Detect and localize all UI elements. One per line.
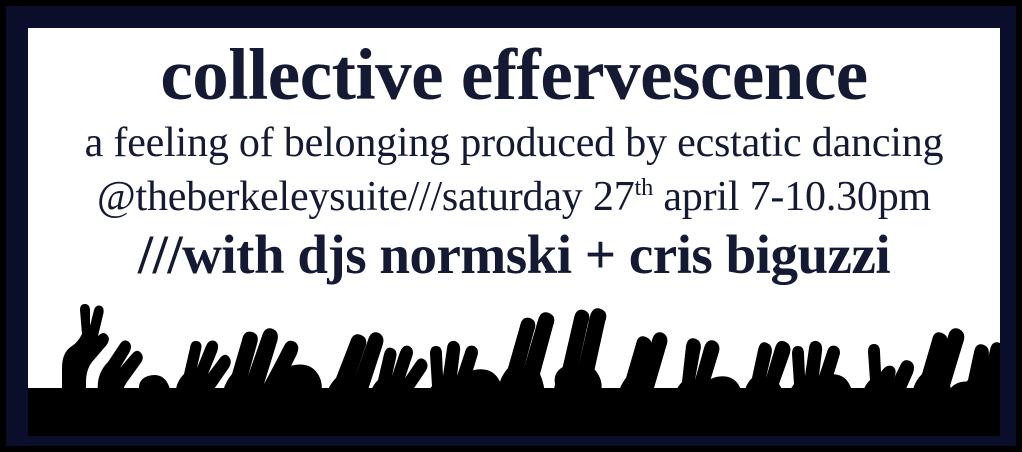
poster-details-time: april 7-10.30pm xyxy=(653,174,931,220)
poster-lineup: ///with djs normski + cris biguzzi xyxy=(28,225,1000,286)
poster-details: @theberkeleysuite///saturday 27th april … xyxy=(28,172,1000,223)
poster: collective effervescence a feeling of be… xyxy=(0,0,1022,452)
crowd-silhouette-artwork xyxy=(28,296,1000,436)
poster-details-venue: @theberkeleysuite///saturday 27 xyxy=(97,174,634,220)
poster-title: collective effervescence xyxy=(28,38,1000,112)
poster-tagline: a feeling of belonging produced by ecsta… xyxy=(28,118,1000,169)
poster-card: collective effervescence a feeling of be… xyxy=(28,28,1000,436)
poster-frame: collective effervescence a feeling of be… xyxy=(6,6,1016,446)
poster-text-block: collective effervescence a feeling of be… xyxy=(28,28,1000,285)
poster-details-ordinal: th xyxy=(635,174,654,201)
